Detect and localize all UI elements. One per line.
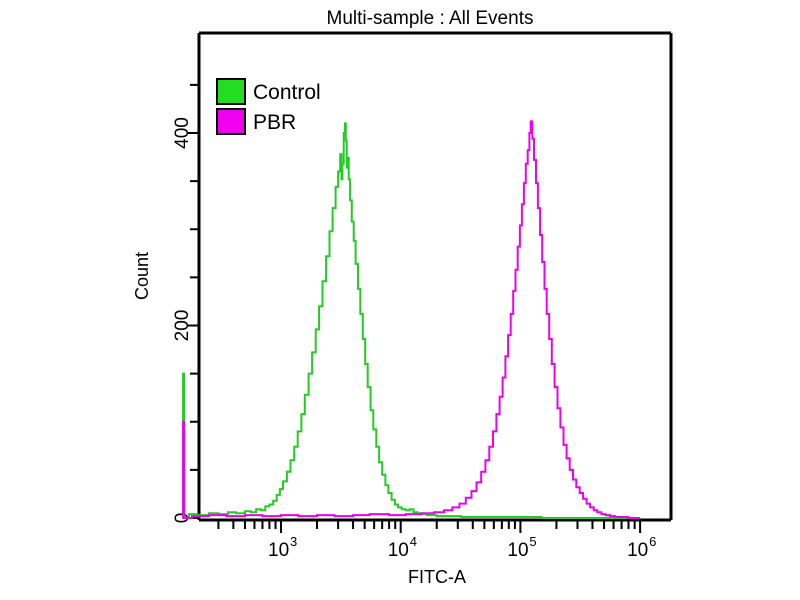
x-tick-label: 106 <box>627 534 656 561</box>
y-tick-label: 400 <box>172 117 193 149</box>
legend-swatch-control <box>217 79 245 104</box>
x-tick-label: 105 <box>507 534 536 561</box>
chart-canvas: Multi-sample : All Events 0200400 103104… <box>0 0 800 600</box>
y-axis-label: Count <box>132 252 152 300</box>
legend: ControlPBR <box>217 79 321 134</box>
legend-label-pbr: PBR <box>253 111 296 134</box>
x-tick-label-exponent: 4 <box>410 534 417 549</box>
x-axis-tick-labels: 103104105106 <box>268 534 656 561</box>
x-tick-label-base: 10 <box>627 540 648 561</box>
data-traces <box>182 121 640 518</box>
x-tick-label-base: 10 <box>388 540 409 561</box>
x-tick-label-exponent: 6 <box>649 534 656 549</box>
x-tick-label: 103 <box>268 534 297 561</box>
x-tick-label-exponent: 5 <box>529 534 536 549</box>
flow-cytometry-histogram: Multi-sample : All Events 0200400 103104… <box>0 0 800 600</box>
trace-pbr <box>182 121 640 518</box>
x-tick-label-base: 10 <box>507 540 528 561</box>
legend-swatch-pbr <box>217 109 245 134</box>
x-tick-label: 104 <box>388 534 417 561</box>
x-tick-label-base: 10 <box>268 540 289 561</box>
plot-frame <box>199 33 671 520</box>
trace-control <box>182 123 640 518</box>
x-axis-ticks <box>218 520 640 533</box>
page-title: Multi-sample : All Events <box>327 8 534 29</box>
x-axis-label: FITC-A <box>408 567 466 587</box>
y-tick-label: 200 <box>172 310 193 342</box>
legend-label-control: Control <box>253 81 321 104</box>
x-tick-label-exponent: 3 <box>290 534 297 549</box>
